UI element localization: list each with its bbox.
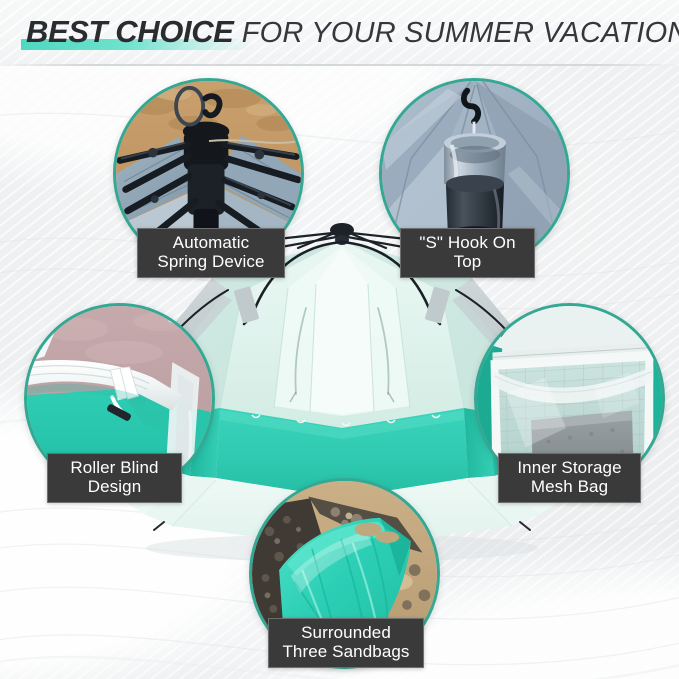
feature-label-surrounded-three-sandbags: Surrounded Three Sandbags xyxy=(268,618,424,668)
page-title-light: FOR YOUR SUMMER VACATION xyxy=(233,17,679,49)
feature-label-roller-blind-design: Roller Blind Design xyxy=(47,453,182,503)
header-banner: BEST CHOICE FOR YOUR SUMMER VACATION xyxy=(0,0,679,66)
feature-label-s-hook-on-top: "S" Hook On Top xyxy=(400,228,535,278)
page-title-strong: BEST CHOICE xyxy=(26,14,233,49)
product-infographic-poster: BEST CHOICE FOR YOUR SUMMER VACATION xyxy=(0,0,679,679)
page-title: BEST CHOICE FOR YOUR SUMMER VACATION xyxy=(26,14,679,51)
header-bottom-edge xyxy=(0,64,679,66)
feature-label-inner-storage-mesh-bag: Inner Storage Mesh Bag xyxy=(498,453,641,503)
feature-label-automatic-spring-device: Automatic Spring Device xyxy=(137,228,285,278)
